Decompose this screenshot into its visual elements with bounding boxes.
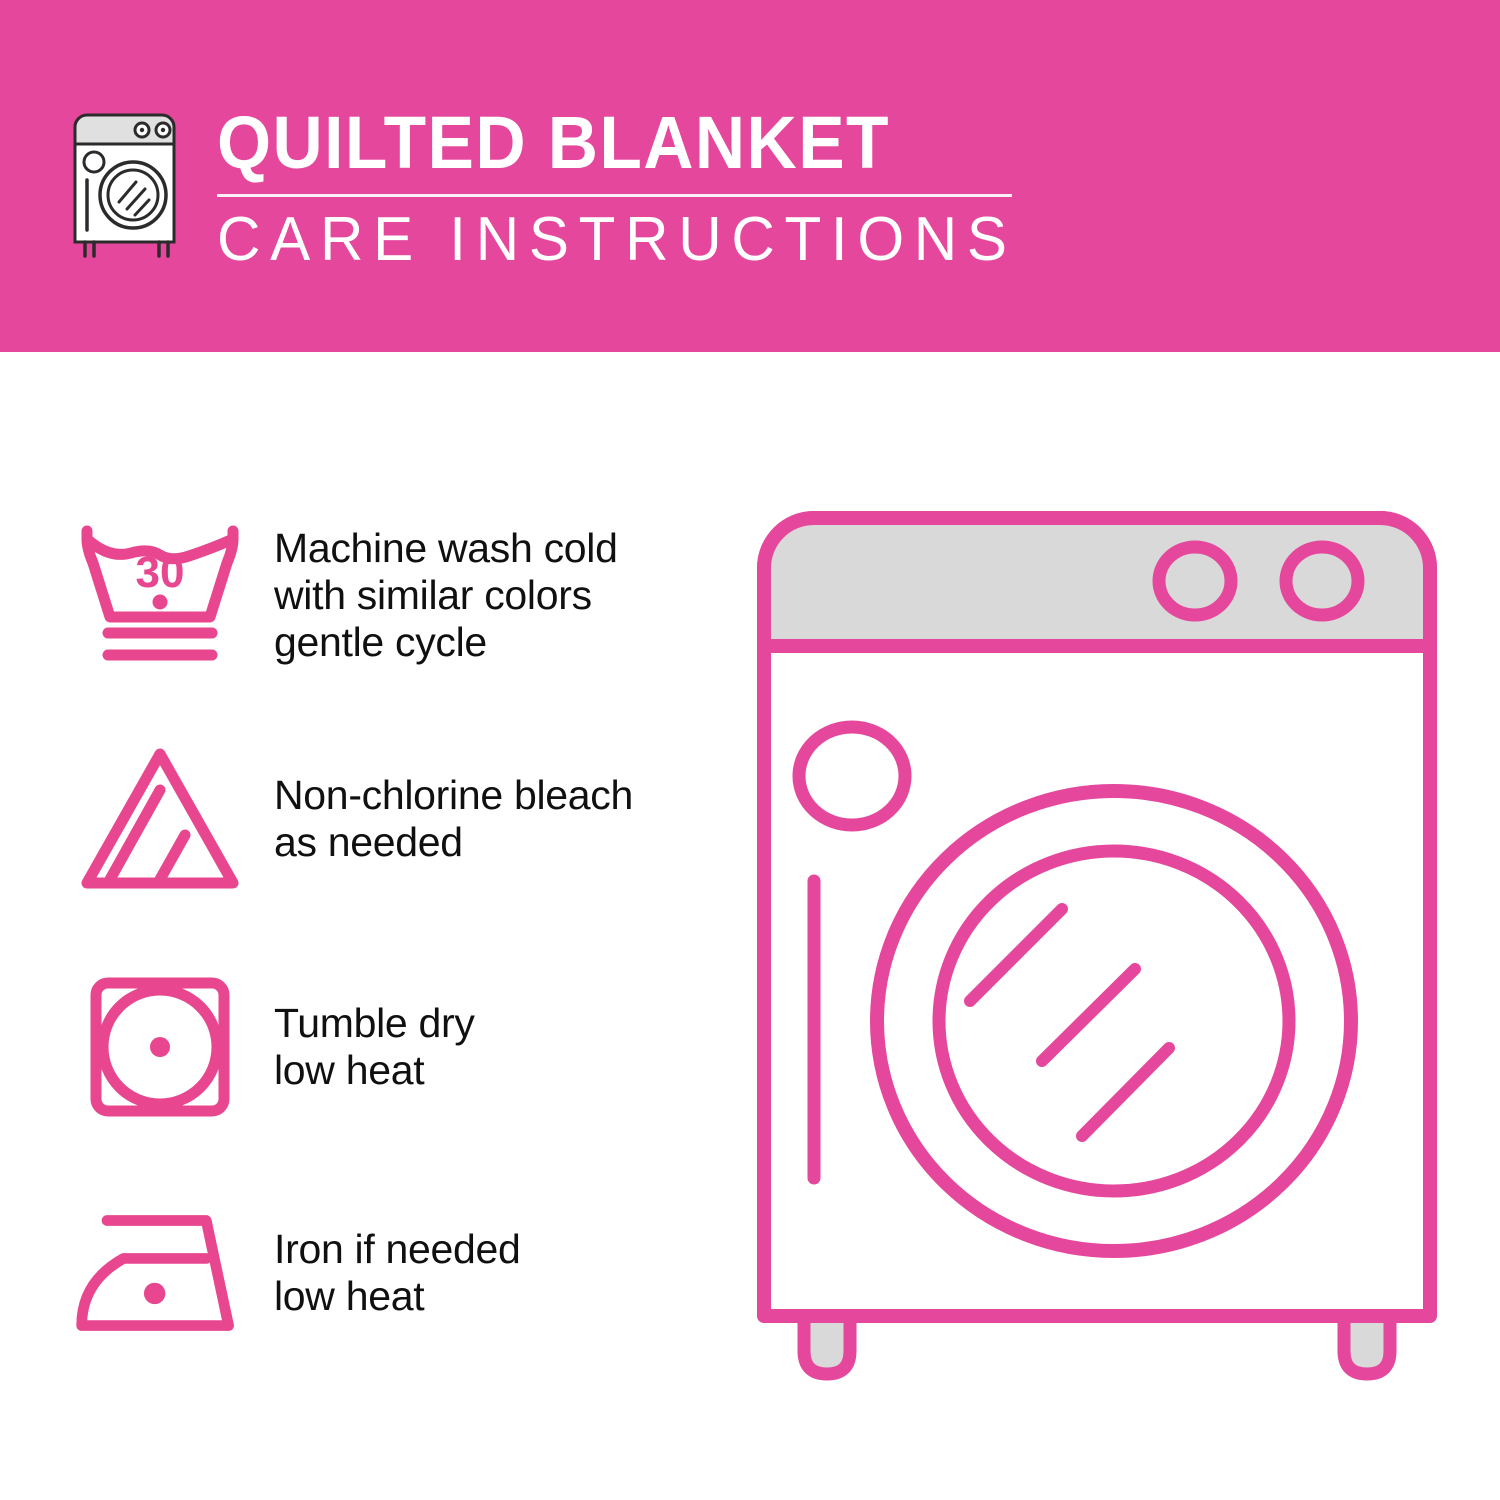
care-row-tumble-dry: Tumble dry low heat — [70, 962, 720, 1132]
care-row-machine-wash: 30 Machine wash cold with similar colors… — [70, 510, 720, 680]
title-divider — [217, 194, 1012, 197]
header-banner: QUILTED BLANKET CARE INSTRUCTIONS — [0, 0, 1500, 352]
washer-drum-inner-ring — [939, 851, 1289, 1191]
wash-tub-30-icon: 30 — [70, 510, 250, 680]
svg-text:30: 30 — [136, 548, 185, 597]
header-content: QUILTED BLANKET CARE INSTRUCTIONS — [66, 104, 1041, 273]
header-titles: QUILTED BLANKET CARE INSTRUCTIONS — [217, 104, 1041, 273]
care-row-iron: Iron if needed low heat — [70, 1188, 720, 1358]
page-title: QUILTED BLANKET — [217, 104, 890, 182]
washer-detergent-dispenser — [799, 727, 905, 825]
care-label-iron: Iron if needed low heat — [274, 1226, 521, 1320]
non-chlorine-bleach-triangle-icon — [70, 734, 250, 904]
care-label-machine-wash: Machine wash cold with similar colors ge… — [274, 525, 618, 666]
front-load-washing-machine-illustration — [742, 496, 1452, 1426]
care-instructions-list: 30 Machine wash cold with similar colors… — [0, 352, 740, 1500]
care-row-bleach: Non-chlorine bleach as needed — [70, 734, 720, 904]
washer-knob-right — [1286, 547, 1358, 615]
washing-machine-icon — [66, 110, 191, 262]
page-subtitle: CARE INSTRUCTIONS — [217, 207, 1017, 273]
care-label-tumble-dry: Tumble dry low heat — [274, 1000, 475, 1094]
care-label-bleach: Non-chlorine bleach as needed — [274, 772, 633, 866]
tumble-dry-low-icon — [70, 962, 250, 1132]
washer-knob-left — [1159, 547, 1231, 615]
iron-low-heat-icon — [70, 1188, 250, 1358]
